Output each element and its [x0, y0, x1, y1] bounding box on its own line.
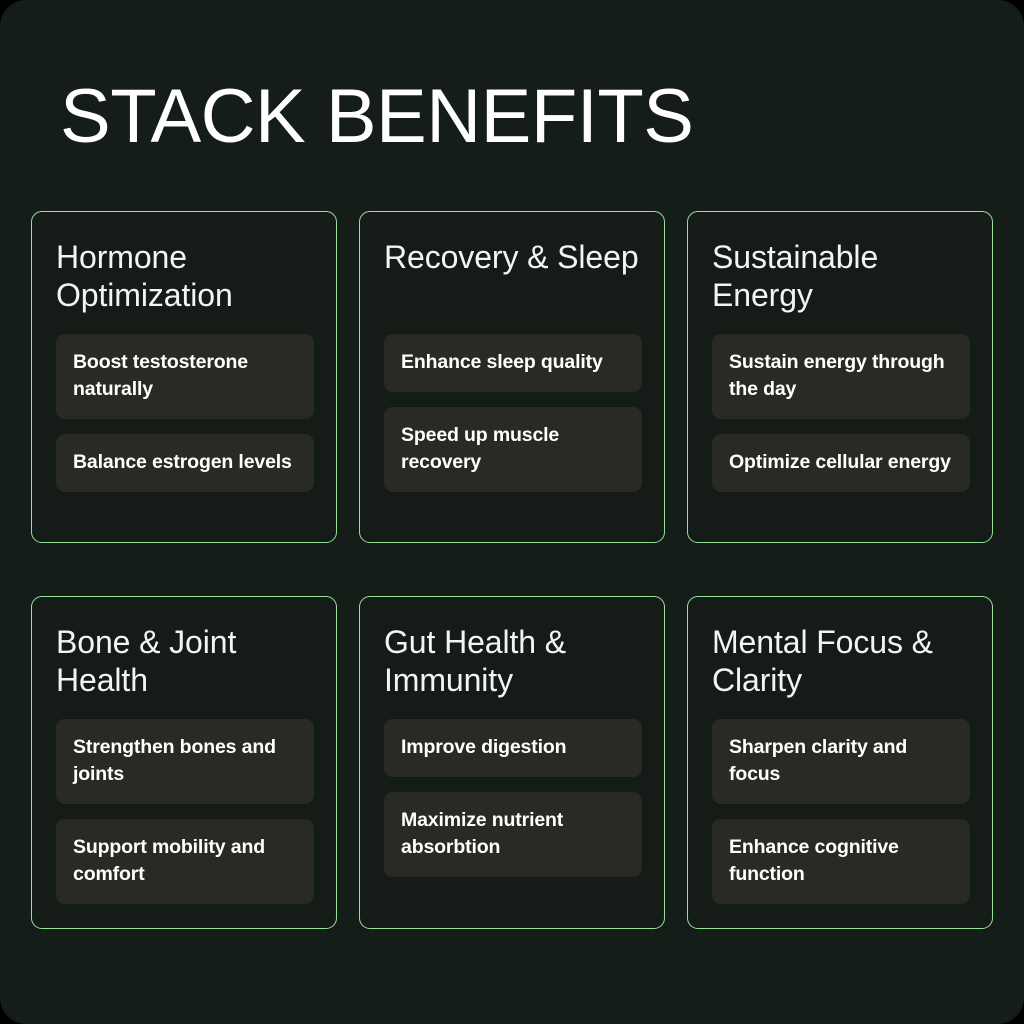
benefit-chip: Strengthen bones and joints — [56, 719, 314, 804]
benefit-chip-list: Improve digestion Maximize nutrient abso… — [384, 719, 642, 877]
benefits-page: STACK BENEFITS Hormone Optimization Boos… — [0, 0, 1024, 1024]
benefit-chip-list: Boost testosterone naturally Balance est… — [56, 334, 314, 492]
benefit-chip: Sustain energy through the day — [712, 334, 970, 419]
benefit-chip: Balance estrogen levels — [56, 434, 314, 492]
benefit-chip-list: Enhance sleep quality Speed up muscle re… — [384, 334, 642, 492]
benefit-chip-list: Sharpen clarity and focus Enhance cognit… — [712, 719, 970, 904]
benefit-chip: Speed up muscle recovery — [384, 407, 642, 492]
benefit-card-mental-focus-clarity: Mental Focus & Clarity Sharpen clarity a… — [687, 596, 993, 929]
benefit-card-title: Hormone Optimization — [56, 238, 314, 314]
benefit-card-bone-joint-health: Bone & Joint Health Strengthen bones and… — [31, 596, 337, 929]
benefit-chip: Enhance cognitive function — [712, 819, 970, 904]
benefit-card-gut-health-immunity: Gut Health & Immunity Improve digestion … — [359, 596, 665, 929]
benefit-card-title: Gut Health & Immunity — [384, 623, 642, 699]
benefit-chip: Boost testosterone naturally — [56, 334, 314, 419]
benefit-chip-list: Strengthen bones and joints Support mobi… — [56, 719, 314, 904]
benefit-chip: Sharpen clarity and focus — [712, 719, 970, 804]
benefit-card-recovery-sleep: Recovery & Sleep Enhance sleep quality S… — [359, 211, 665, 543]
benefit-chip: Enhance sleep quality — [384, 334, 642, 392]
benefit-chip: Improve digestion — [384, 719, 642, 777]
page-title: STACK BENEFITS — [60, 74, 693, 160]
benefit-chip: Optimize cellular energy — [712, 434, 970, 492]
benefit-card-title: Sustainable Energy — [712, 238, 970, 314]
benefit-chip: Support mobility and comfort — [56, 819, 314, 904]
benefit-card-title: Mental Focus & Clarity — [712, 623, 970, 699]
benefit-card-hormone-optimization: Hormone Optimization Boost testosterone … — [31, 211, 337, 543]
benefits-grid: Hormone Optimization Boost testosterone … — [31, 211, 993, 929]
benefit-card-title: Bone & Joint Health — [56, 623, 314, 699]
benefit-chip: Maximize nutrient absorbtion — [384, 792, 642, 877]
benefit-card-sustainable-energy: Sustainable Energy Sustain energy throug… — [687, 211, 993, 543]
benefit-chip-list: Sustain energy through the day Optimize … — [712, 334, 970, 492]
benefit-card-title: Recovery & Sleep — [384, 238, 642, 314]
